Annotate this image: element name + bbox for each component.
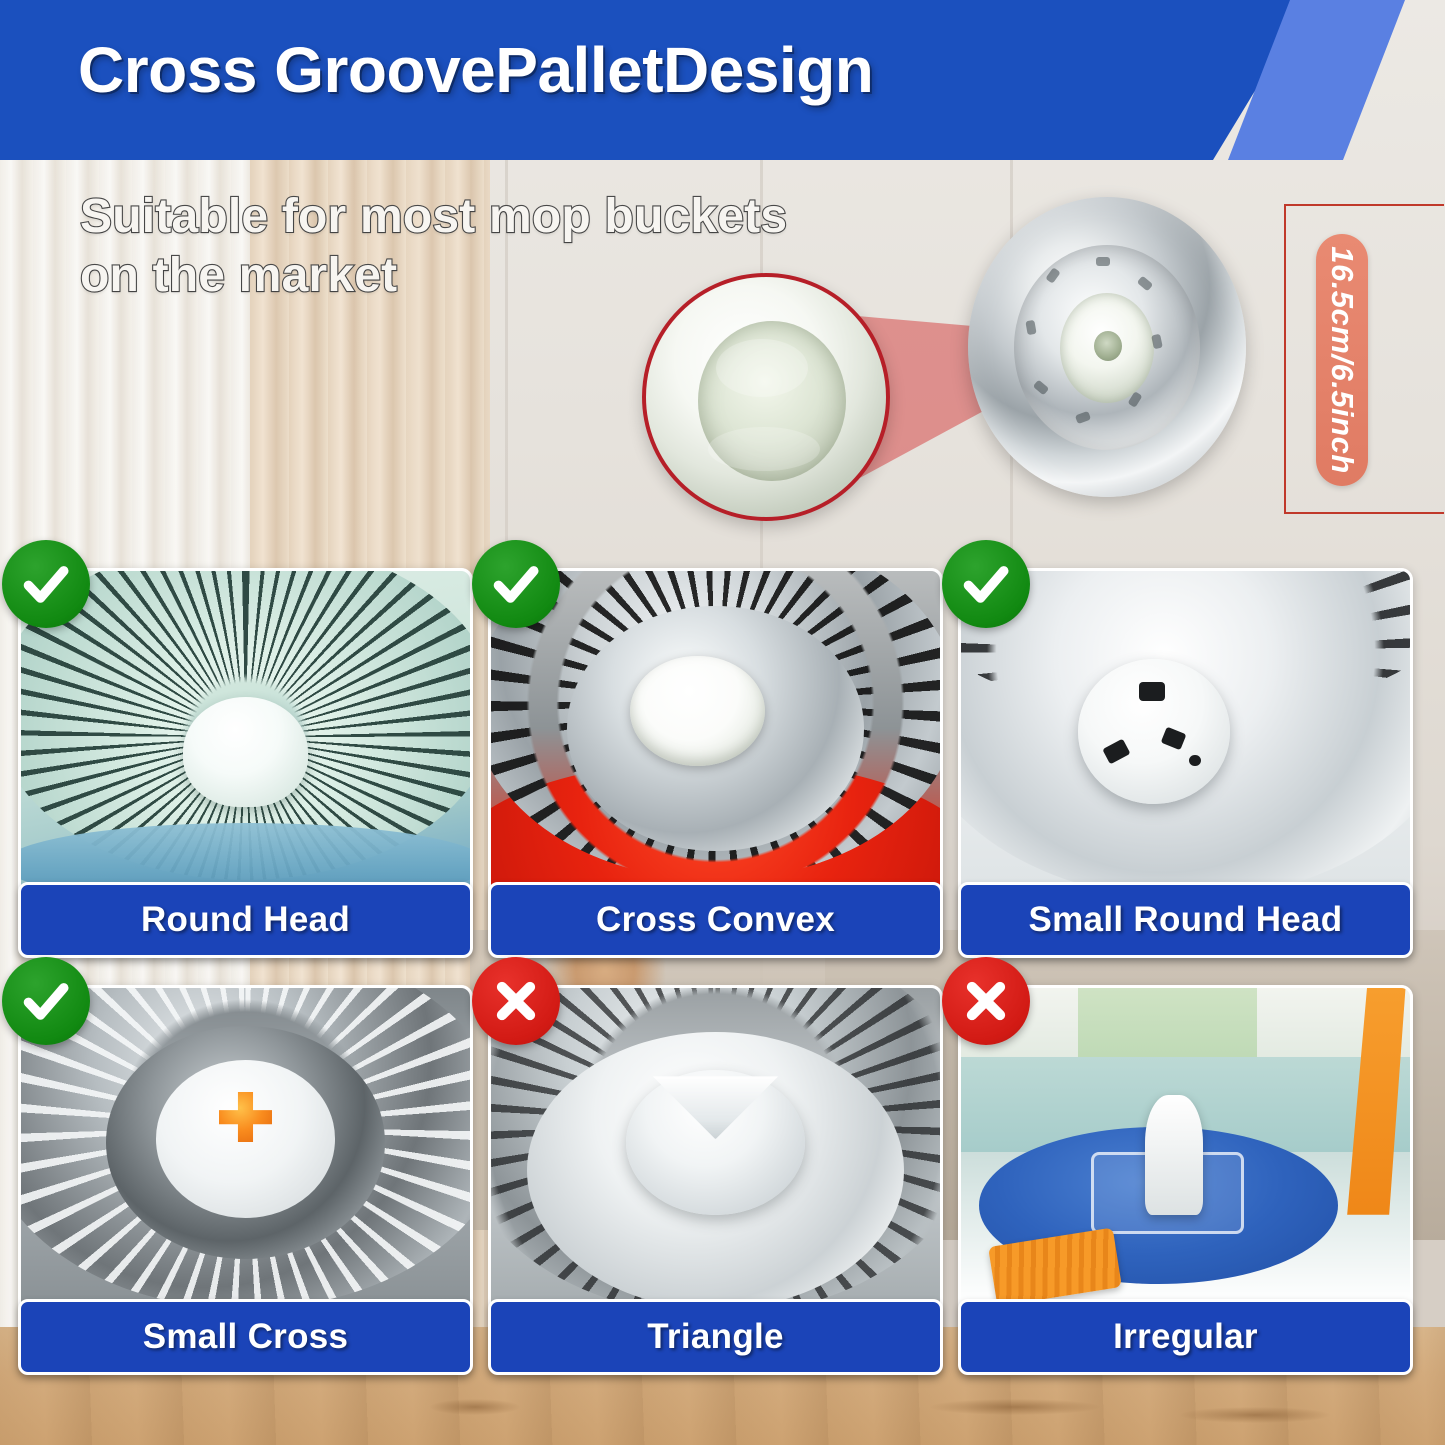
check-icon xyxy=(2,540,90,628)
product-zoom-callout xyxy=(620,185,1320,530)
compatibility-grid: Round Head Cross Convex xyxy=(18,568,1430,1375)
product-disc-photo xyxy=(968,197,1246,497)
card-label-text: Cross Convex xyxy=(596,900,835,940)
card-photo xyxy=(958,568,1413,886)
magnified-detail-bubble xyxy=(642,273,890,521)
card-label-text: Irregular xyxy=(1113,1317,1258,1357)
card-photo xyxy=(488,985,943,1303)
card-label-bar: Irregular xyxy=(958,1299,1413,1375)
cross-x-icon xyxy=(942,957,1030,1045)
card-label-text: Small Cross xyxy=(143,1317,349,1357)
card-photo xyxy=(958,985,1413,1303)
card-photo xyxy=(18,985,473,1303)
card-small-cross[interactable]: Small Cross xyxy=(18,985,473,1375)
card-label-bar: Round Head xyxy=(18,882,473,958)
card-photo xyxy=(488,568,943,886)
card-label-bar: Small Cross xyxy=(18,1299,473,1375)
check-icon xyxy=(2,957,90,1045)
card-triangle[interactable]: Triangle xyxy=(488,985,943,1375)
check-icon xyxy=(942,540,1030,628)
card-label-bar: Cross Convex xyxy=(488,882,943,958)
card-label-text: Triangle xyxy=(647,1317,784,1357)
card-small-round-head[interactable]: Small Round Head xyxy=(958,568,1413,958)
card-label-text: Small Round Head xyxy=(1028,900,1342,940)
disc-core xyxy=(1094,331,1122,361)
card-label-bar: Triangle xyxy=(488,1299,943,1375)
card-irregular[interactable]: Irregular xyxy=(958,985,1413,1375)
card-label-bar: Small Round Head xyxy=(958,882,1413,958)
check-icon xyxy=(472,540,560,628)
card-cross-convex[interactable]: Cross Convex xyxy=(488,568,943,958)
card-round-head[interactable]: Round Head xyxy=(18,568,473,958)
infographic-stage: Cross GroovePalletDesign Suitable for mo… xyxy=(0,0,1445,1445)
card-photo xyxy=(18,568,473,886)
cross-x-icon xyxy=(472,957,560,1045)
card-label-text: Round Head xyxy=(141,900,350,940)
